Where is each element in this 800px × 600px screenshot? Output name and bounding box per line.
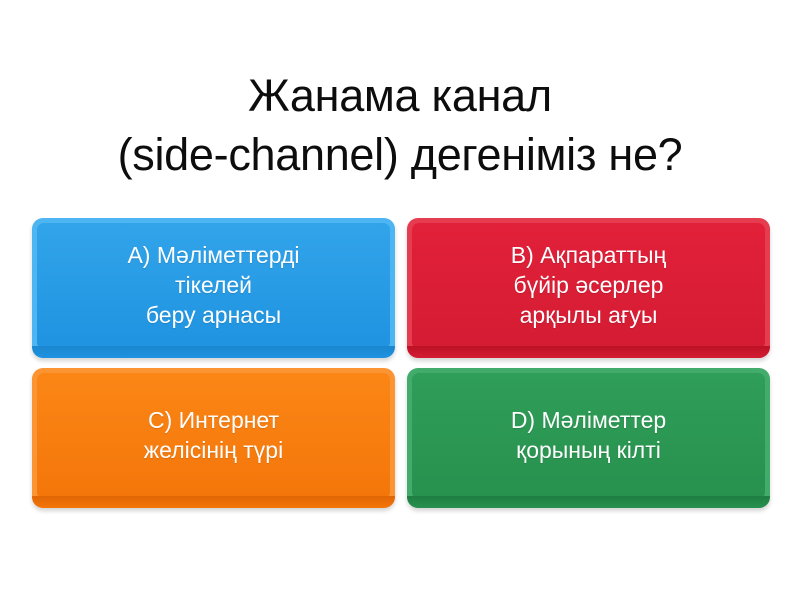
answer-card-a[interactable]: А) Мәліметтерді тікелей беру арнасы [32, 218, 395, 358]
answer-card-c-bevel [32, 496, 395, 508]
answer-card-c[interactable]: C) Интернет желісінің түрі [32, 368, 395, 508]
answer-card-b-bevel [407, 346, 770, 358]
quiz-slide: Жанама канал (side-channel) дегеніміз не… [0, 0, 800, 600]
answer-options-grid: А) Мәліметтерді тікелей беру арнасы B) А… [32, 218, 770, 508]
answer-label-b: B) Ақпараттың бүйір әсерлер арқылы ағуы [511, 241, 666, 331]
answer-card-a-face: А) Мәліметтерді тікелей беру арнасы [37, 223, 390, 349]
answer-label-c: C) Интернет желісінің түрі [144, 406, 283, 466]
answer-label-d: D) Мәліметтер қорының кілті [511, 406, 666, 466]
answer-card-d-bevel [407, 496, 770, 508]
answer-label-a: А) Мәліметтерді тікелей беру арнасы [127, 241, 299, 331]
answer-card-d[interactable]: D) Мәліметтер қорының кілті [407, 368, 770, 508]
answer-card-d-face: D) Мәліметтер қорының кілті [412, 373, 765, 499]
answer-card-c-face: C) Интернет желісінің түрі [37, 373, 390, 499]
question-text: Жанама канал (side-channel) дегеніміз не… [32, 66, 768, 185]
answer-card-a-bevel [32, 346, 395, 358]
answer-card-b[interactable]: B) Ақпараттың бүйір әсерлер арқылы ағуы [407, 218, 770, 358]
question-area: Жанама канал (side-channel) дегеніміз не… [32, 66, 768, 201]
answer-card-b-face: B) Ақпараттың бүйір әсерлер арқылы ағуы [412, 223, 765, 349]
